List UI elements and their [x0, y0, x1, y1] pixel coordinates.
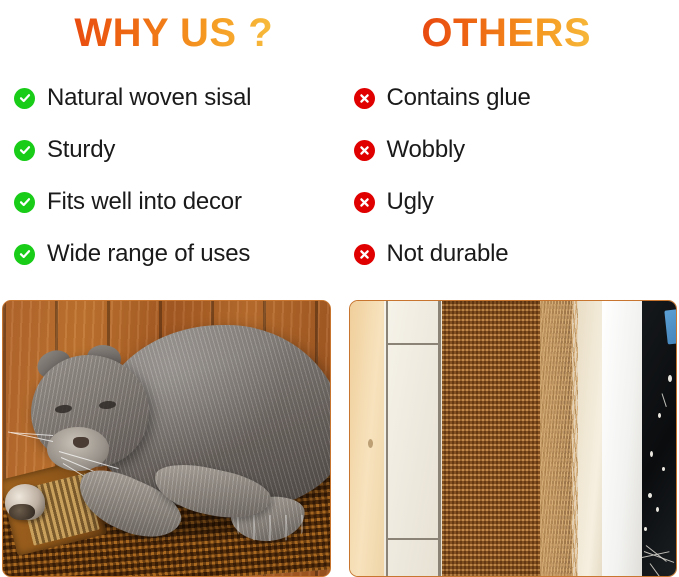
list-item: Fits well into decor — [14, 176, 340, 228]
list-item: Wide range of uses — [14, 228, 340, 280]
cross-circle-icon — [354, 244, 375, 265]
list-item-label: Natural woven sisal — [47, 85, 251, 111]
headings-row: WHY US ? OTHERS — [0, 0, 679, 62]
debris-fleck — [662, 467, 665, 471]
tile-grout-line — [386, 538, 440, 540]
cross-circle-icon — [354, 88, 375, 109]
check-circle-icon — [14, 244, 35, 265]
debris-fleck — [656, 507, 659, 512]
others-heading: OTHERS — [421, 13, 597, 53]
list-item: Not durable — [354, 228, 679, 280]
list-item-label: Ugly — [387, 189, 434, 215]
tile-grout-line — [386, 343, 440, 345]
feature-lists-row: Natural woven sisal Sturdy Fits well int… — [0, 62, 679, 300]
cat-nose — [73, 437, 89, 448]
list-item: Contains glue — [354, 72, 679, 124]
list-item: Ugly — [354, 176, 679, 228]
comparison-infographic: WHY US ? OTHERS Natural woven sisal Stur… — [0, 0, 679, 577]
list-item-label: Sturdy — [47, 137, 115, 163]
why-us-list: Natural woven sisal Sturdy Fits well int… — [0, 62, 340, 300]
list-item-label: Fits well into decor — [47, 189, 242, 215]
list-item-label: Wobbly — [387, 137, 465, 163]
list-item: Natural woven sisal — [14, 72, 340, 124]
check-circle-icon — [14, 88, 35, 109]
frayed-sisal-mat-photo — [349, 300, 678, 577]
why-us-heading-cell: WHY US ? — [0, 0, 340, 62]
why-us-heading: WHY US ? — [66, 13, 273, 53]
debris-fleck — [648, 493, 652, 498]
others-list: Contains glue Wobbly Ugly Not durable — [340, 62, 679, 300]
cat-toes — [237, 515, 303, 541]
list-item-label: Not durable — [387, 241, 509, 267]
cross-circle-icon — [354, 140, 375, 161]
list-item: Wobbly — [354, 124, 679, 176]
list-item-label: Wide range of uses — [47, 241, 250, 267]
debris-fleck — [668, 375, 672, 382]
check-circle-icon — [14, 140, 35, 161]
list-item: Sturdy — [14, 124, 340, 176]
cat-toy — [5, 484, 45, 520]
debris-fleck — [650, 451, 653, 457]
cat-on-sisal-mat-photo — [2, 300, 331, 577]
others-heading-cell: OTHERS — [340, 0, 679, 62]
cross-circle-icon — [354, 192, 375, 213]
debris-fleck — [658, 413, 661, 418]
list-item-label: Contains glue — [387, 85, 531, 111]
debris-fleck — [644, 527, 647, 531]
photos-row — [0, 300, 679, 577]
check-circle-icon — [14, 192, 35, 213]
